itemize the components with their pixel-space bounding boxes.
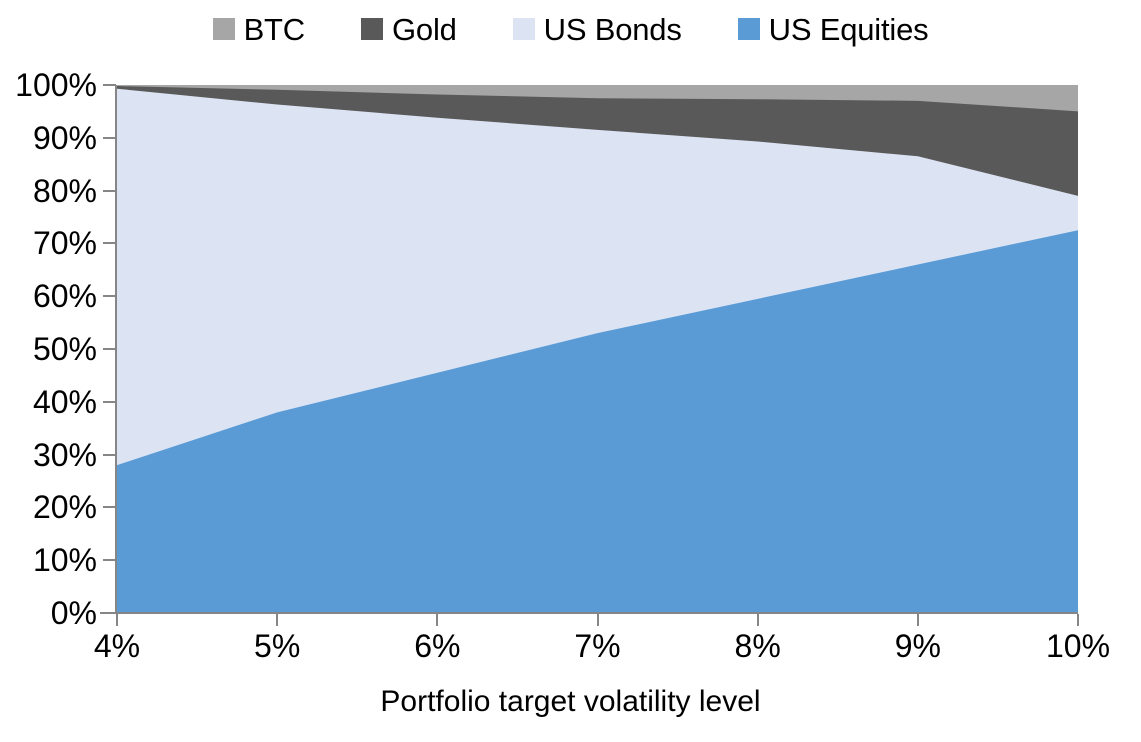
legend-entry[interactable]: US Equities xyxy=(738,14,929,45)
x-axis-tick-label: 8% xyxy=(698,630,818,662)
y-axis-tick xyxy=(103,242,116,244)
plot-area xyxy=(117,85,1078,613)
legend-entry[interactable]: US Bonds xyxy=(513,14,682,45)
y-axis-tick-label: 60% xyxy=(0,280,97,312)
y-axis-tick-label: 0% xyxy=(0,597,97,629)
y-axis-tick-label: 90% xyxy=(0,122,97,154)
legend-label: US Equities xyxy=(769,14,929,45)
y-axis-tick xyxy=(103,559,116,561)
y-axis-tick-label: 30% xyxy=(0,439,97,471)
x-axis-tick-label: 7% xyxy=(538,630,658,662)
y-axis-tick xyxy=(103,612,116,614)
y-axis-tick-label: 80% xyxy=(0,175,97,207)
y-axis-tick-label: 100% xyxy=(0,69,97,101)
y-axis-tick-label: 50% xyxy=(0,333,97,365)
x-axis-title: Portfolio target volatility level xyxy=(0,687,1141,717)
legend-entry[interactable]: Gold xyxy=(361,14,457,45)
stacked-area-chart: BTCGoldUS BondsUS Equities 0%10%20%30%40… xyxy=(0,0,1141,742)
y-axis-tick-label: 40% xyxy=(0,386,97,418)
y-axis-tick xyxy=(103,137,116,139)
x-axis-tick-label: 10% xyxy=(1018,630,1138,662)
y-axis-tick xyxy=(103,454,116,456)
legend-swatch-icon xyxy=(513,18,535,40)
x-axis-tick xyxy=(436,614,438,626)
y-axis-tick xyxy=(103,84,116,86)
y-axis-tick-label: 20% xyxy=(0,491,97,523)
x-axis-tick xyxy=(1077,614,1079,626)
y-axis-tick xyxy=(103,295,116,297)
x-axis-tick xyxy=(597,614,599,626)
x-axis-tick xyxy=(116,614,118,626)
x-axis-tick xyxy=(917,614,919,626)
x-axis-tick-label: 9% xyxy=(858,630,978,662)
legend-entry[interactable]: BTC xyxy=(213,14,305,45)
chart-legend: BTCGoldUS BondsUS Equities xyxy=(0,6,1141,52)
x-axis-line xyxy=(100,612,1078,614)
x-axis-tick-label: 6% xyxy=(377,630,497,662)
x-axis-tick xyxy=(757,614,759,626)
y-axis-tick xyxy=(103,506,116,508)
legend-label: BTC xyxy=(244,14,305,45)
y-axis-tick xyxy=(103,348,116,350)
y-axis-tick xyxy=(103,190,116,192)
x-axis-tick xyxy=(276,614,278,626)
legend-swatch-icon xyxy=(213,18,235,40)
legend-label: Gold xyxy=(392,14,457,45)
legend-swatch-icon xyxy=(361,18,383,40)
y-axis-tick-label: 70% xyxy=(0,227,97,259)
x-axis-tick-label: 4% xyxy=(57,630,177,662)
legend-swatch-icon xyxy=(738,18,760,40)
legend-label: US Bonds xyxy=(544,14,682,45)
y-axis-tick xyxy=(103,401,116,403)
plot-svg xyxy=(117,85,1078,613)
y-axis-tick-label: 10% xyxy=(0,544,97,576)
x-axis-tick-label: 5% xyxy=(217,630,337,662)
